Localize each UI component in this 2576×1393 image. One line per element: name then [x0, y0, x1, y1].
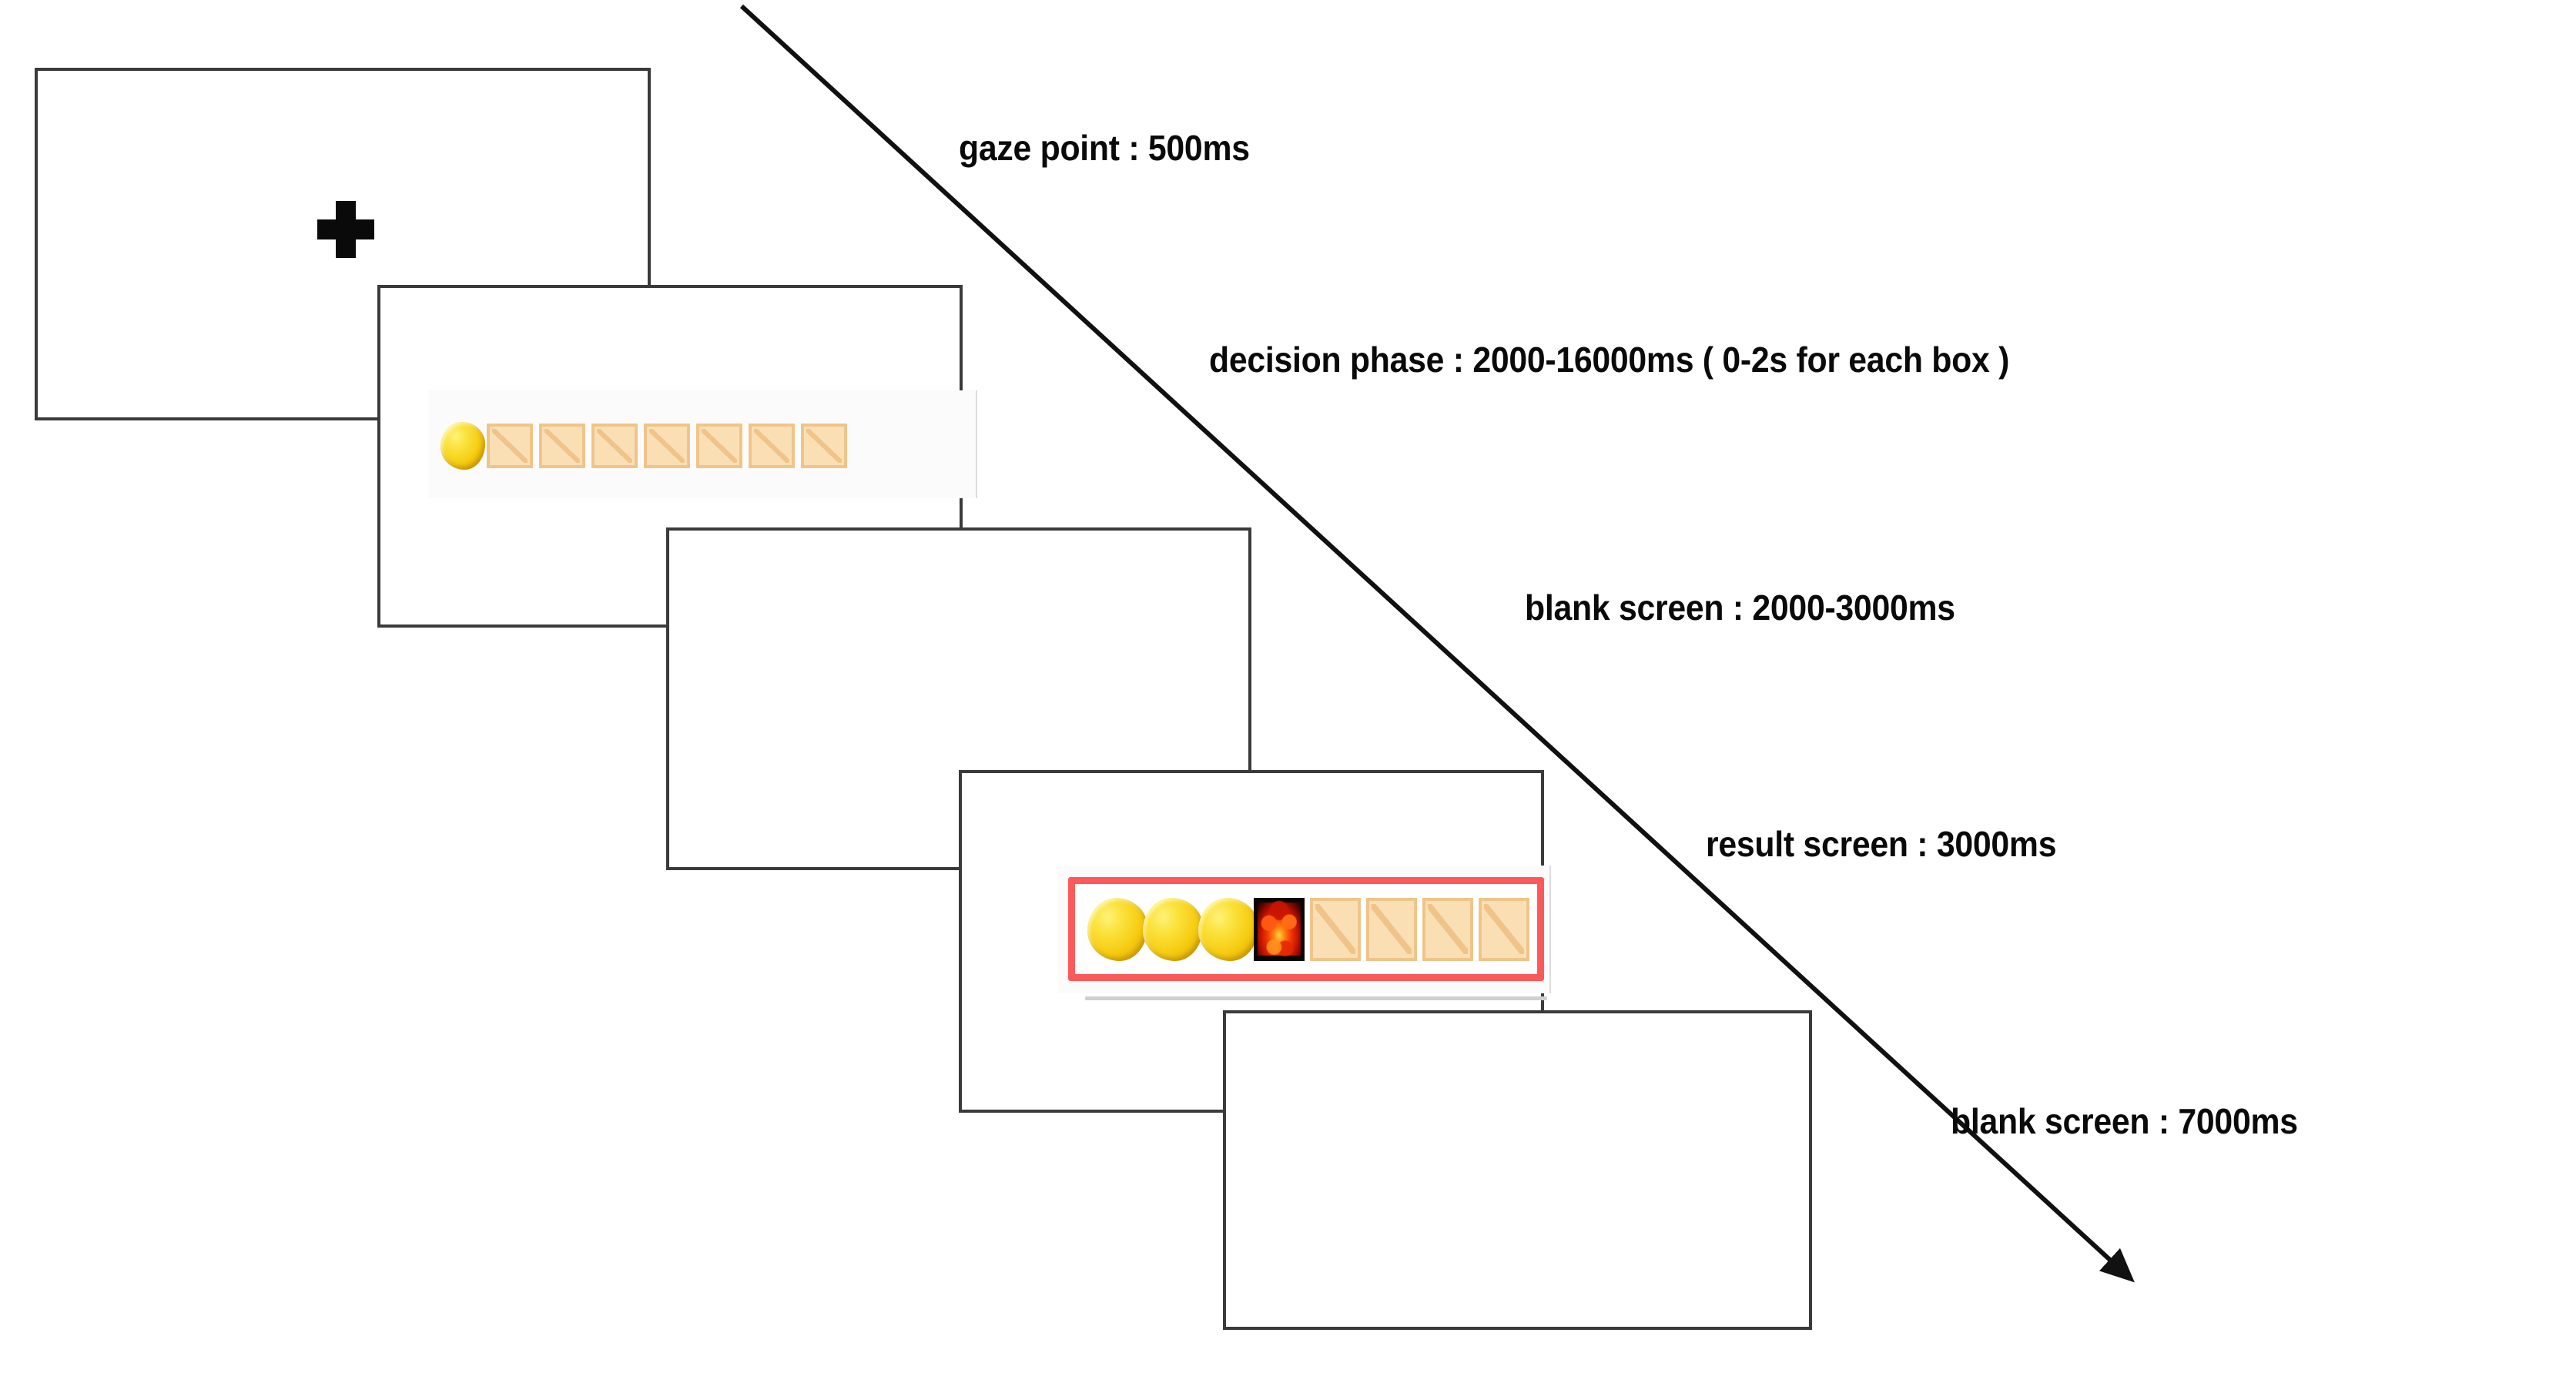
- coin-icon: [440, 422, 485, 470]
- closed-box-icon: [696, 424, 742, 468]
- caption-decision-phase: decision phase : 2000-16000ms ( 0-2s for…: [1209, 341, 2009, 378]
- closed-box-icon: [749, 424, 795, 468]
- closed-box-icon: [487, 424, 533, 468]
- closed-box-icon: [1422, 898, 1473, 961]
- explosion-icon: [1254, 898, 1305, 961]
- panel-right-edge: [1549, 866, 1551, 993]
- closed-box-icon: [1479, 898, 1529, 961]
- figure-canvas: gaze point : 500ms decision phase : 2000…: [0, 0, 2576, 1393]
- closed-box-icon: [539, 424, 585, 468]
- coin-icon: [1198, 898, 1258, 961]
- caption-blank-screen-2: blank screen : 7000ms: [1951, 1103, 2298, 1140]
- closed-box-icon: [1310, 898, 1361, 961]
- closed-box-icon: [591, 424, 638, 468]
- caption-result-screen: result screen : 3000ms: [1706, 825, 2056, 862]
- closed-box-icon: [1366, 898, 1417, 961]
- result-item-row: [1068, 877, 1544, 981]
- caption-gaze-point: gaze point : 500ms: [959, 129, 1250, 166]
- caption-blank-screen-1: blank screen : 2000-3000ms: [1525, 589, 1955, 626]
- closed-box-icon: [801, 424, 847, 468]
- coin-icon: [1143, 898, 1203, 961]
- decision-item-row: [440, 420, 847, 471]
- coin-icon: [1087, 898, 1147, 961]
- panel-bottom-shadow: [1085, 996, 1547, 1000]
- screen-blank-2: [1223, 1010, 1812, 1330]
- panel-right-edge: [976, 390, 977, 498]
- closed-box-icon: [644, 424, 690, 468]
